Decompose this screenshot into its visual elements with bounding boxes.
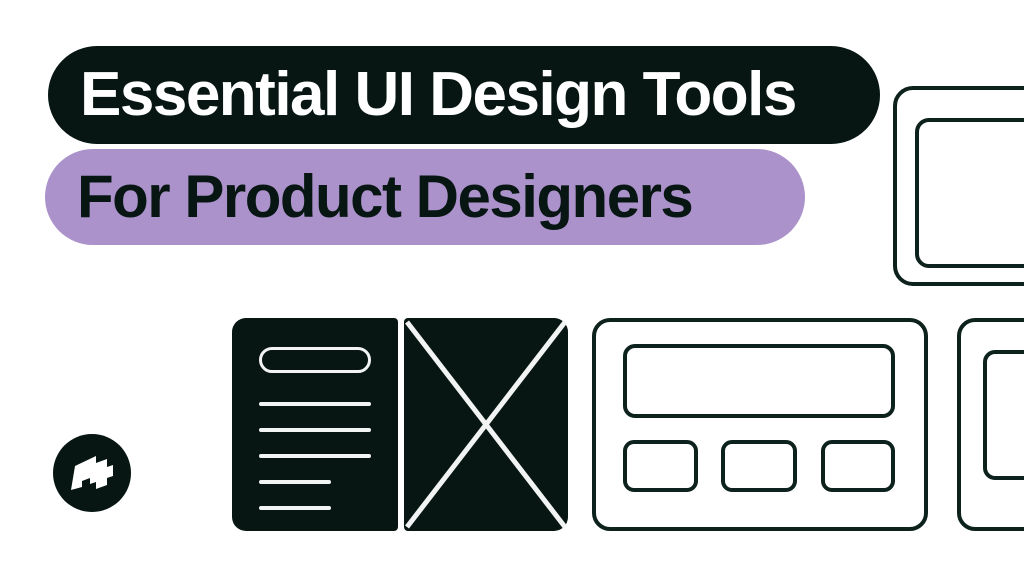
- wireframe-inner-frame: [983, 350, 1024, 480]
- headline-line-2: For Product Designers: [77, 167, 692, 227]
- wireframe-list-line: [259, 402, 371, 406]
- wireframe-nested-frame-icon-top: [893, 86, 1024, 286]
- headline-pill-primary: Essential UI Design Tools: [48, 46, 880, 144]
- wireframe-inner-frame: [915, 118, 1024, 268]
- wireframe-hero-block: [623, 344, 895, 418]
- wireframe-card-icon: [592, 318, 928, 531]
- poster-canvas: Essential UI Design Tools For Product De…: [0, 0, 1024, 576]
- headline-pill-secondary: For Product Designers: [45, 149, 805, 245]
- wireframe-sidebar-icon: [232, 318, 398, 531]
- wireframe-list-line: [259, 506, 331, 510]
- wireframe-chip: [821, 440, 895, 492]
- wireframe-nested-frame-icon-bottom: [957, 318, 1024, 531]
- wireframe-image-placeholder-icon: [404, 318, 568, 531]
- brand-logo-badge: [53, 434, 131, 512]
- wireframe-list-line: [259, 454, 371, 458]
- wireframe-chip: [623, 440, 698, 492]
- wireframe-search-field: [259, 347, 371, 373]
- wireframe-list-line: [259, 480, 331, 484]
- wireframe-list-line: [259, 428, 371, 432]
- wireframe-chip: [721, 440, 797, 492]
- headline-line-1: Essential UI Design Tools: [80, 64, 796, 126]
